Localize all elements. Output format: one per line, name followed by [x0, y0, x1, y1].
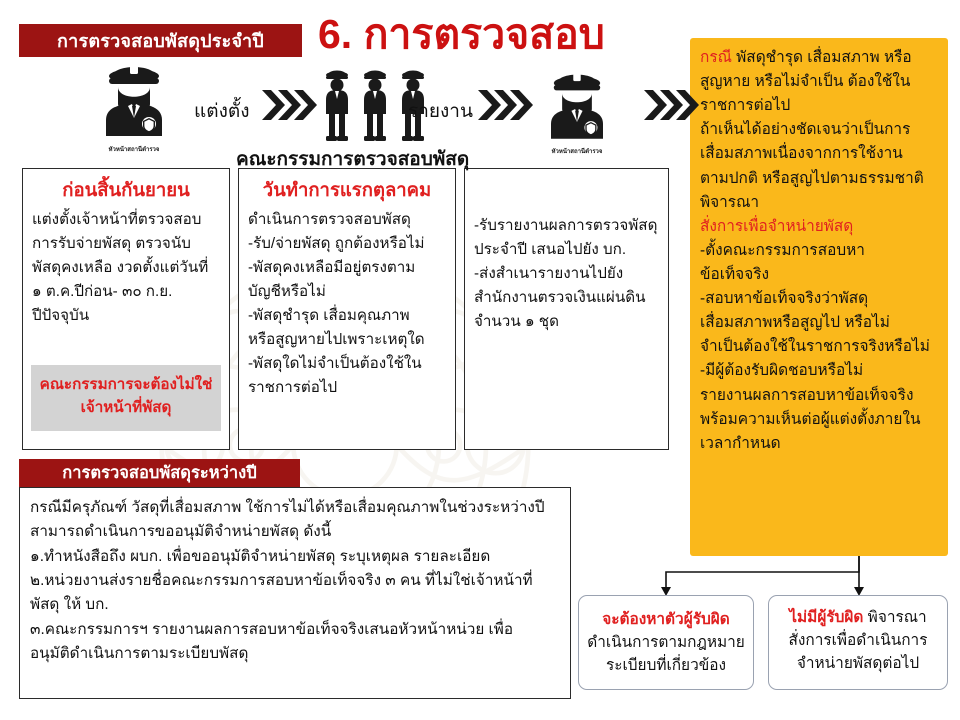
lower-line: อนุมัติดำเนินการตามระเบียบพัสดุ — [30, 642, 560, 666]
lower-line: ๑.ทำหนังสือถึง ผบก. เพื่อขออนุมัติจำหน่า… — [30, 545, 560, 569]
card-line: ดำเนินการตรวจสอบพัสดุ — [248, 208, 446, 232]
card-line: -พัสดุใดไม่จำเป็นต้องใช้ใน — [248, 352, 446, 376]
yellow-line-1: กรณี พัสดุชำรุด เสื่อมสภาพ หรือ — [700, 46, 938, 70]
card-line: แต่งตั้งเจ้าหน้าที่ตรวจสอบ — [32, 208, 220, 232]
yellow-line: จำเป็นต้องใช้ในราชการจริงหรือไม่ — [700, 335, 938, 359]
actor-caption: หัวหน้าสถานีตำรวจ — [525, 146, 629, 156]
card-before-end-september: ก่อนสิ้นกันยายน แต่งตั้งเจ้าหน้าที่ตรวจส… — [22, 168, 230, 450]
process-flow: หัวหน้าสถานีตำรวจ แต่งตั้ง — [70, 62, 690, 170]
flow-label-appoint: แต่งตั้ง — [194, 96, 249, 126]
actor-police-chief-right: หัวหน้าสถานีตำรวจ — [525, 70, 629, 156]
card-line: -พัสดุชำรุด เสื่อมคุณภาพ — [248, 304, 446, 328]
card-line: ปีปัจจุบัน — [32, 304, 220, 328]
card-body: -รับรายงานผลการตรวจพัสดุ ประจำปี เสนอไปย… — [465, 169, 668, 334]
slide-canvas: การตรวจสอบพัสดุประจำปี 6. การตรวจสอบ — [0, 0, 960, 720]
actor-police-chief-left: หัวหน้าสถานีตำรวจ — [78, 62, 190, 154]
yellow-line: เสื่อมสภาพเนื่องจากการใช้งาน — [700, 142, 938, 166]
lower-line: พัสดุ ให้ บก. — [30, 593, 560, 617]
card-heading: ก่อนสิ้นกันยายน — [23, 176, 229, 205]
result-heading: ไม่มีผู้รับผิด — [789, 609, 863, 626]
card-line: ประจำปี เสนอไปยัง บก. — [474, 238, 659, 262]
highlight-line: คณะกรรมการจะต้องไม่ใช่ — [35, 374, 217, 397]
committee-label: คณะกรรมการตรวจสอบพัสดุ — [236, 144, 469, 174]
card-body: ดำเนินการตรวจสอบพัสดุ -รับ/จ่ายพัสดุ ถูก… — [239, 208, 455, 400]
double-chevron-right-icon-1 — [260, 88, 318, 122]
lower-line: กรณีมีครุภัณฑ์ วัสดุที่เสื่อมสภาพ ใช้การ… — [30, 496, 560, 520]
card-heading: วันทำการแรกตุลาคม — [239, 176, 455, 205]
result-heading-suffix: พิจารณา — [863, 609, 926, 626]
card-line: สำนักงานตรวจเงินแผ่นดิน — [474, 286, 659, 310]
lower-line: สามารถดำเนินการขออนุมัติจำหน่ายพัสดุ ดัง… — [30, 520, 560, 544]
result-heading-row: ไม่มีผู้รับผิด พิจารณา — [769, 606, 947, 629]
result-box-liable-party: จะต้องหาตัวผู้รับผิด ดำเนินการตามกฎหมาย … — [578, 595, 754, 690]
yellow-line: ข้อเท็จจริง — [700, 263, 938, 287]
card-line: การรับจ่ายพัสดุ ตรวจนับ — [32, 232, 220, 256]
yellow-accent-word: กรณี — [700, 49, 732, 66]
yellow-line: -มีผู้ต้องรับผิดชอบหรือไม่ — [700, 359, 938, 383]
highlight-line: เจ้าหน้าที่พัสดุ — [35, 397, 217, 420]
card-highlight-note: คณะกรรมการจะต้องไม่ใช่ เจ้าหน้าที่พัสดุ — [31, 365, 221, 431]
actor-caption: หัวหน้าสถานีตำรวจ — [78, 144, 190, 154]
lower-section-body: กรณีมีครุภัณฑ์ วัสดุที่เสื่อมสภาพ ใช้การ… — [19, 487, 571, 699]
yellow-line: ตามปกติ หรือสูญไปตามธรรมชาติ — [700, 167, 938, 191]
yellow-line: พร้อมความเห็นต่อผู้แต่งตั้งภายใน — [700, 408, 938, 432]
card-line: หรือสูญหายไปเพราะเหตุใด — [248, 328, 446, 352]
yellow-line: รายงานผลการสอบหาข้อเท็จจริง — [700, 384, 938, 408]
result-box-no-liable-party: ไม่มีผู้รับผิด พิจารณา สั่งการเพื่อดำเนิ… — [768, 595, 948, 690]
result-line: ระเบียบที่เกี่ยวข้อง — [579, 654, 753, 677]
card-line: -รับรายงานผลการตรวจพัสดุ — [474, 214, 659, 238]
card-line: -พัสดุคงเหลือมีอยู่ตรงตาม — [248, 256, 446, 280]
card-line: -ส่งสำเนารายงานไปยัง — [474, 262, 659, 286]
police-officer-icon — [538, 70, 616, 148]
card-line: ๑ ต.ค.ปีก่อน- ๓๐ ก.ย. — [32, 280, 220, 304]
panel-damaged-asset-procedure: กรณี พัสดุชำรุด เสื่อมสภาพ หรือ สูญหาย ห… — [690, 38, 948, 556]
yellow-line: พิจารณา — [700, 191, 938, 215]
lower-section-header-label: การตรวจสอบพัสดุระหว่างปี — [62, 460, 256, 486]
header-badge-label: การตรวจสอบพัสดุประจำปี — [57, 26, 264, 55]
police-officer-icon — [92, 62, 176, 146]
card-line: จำนวน ๑ ชุด — [474, 310, 659, 334]
lower-line: ๓.คณะกรรมการฯ รายงานผลการสอบหาข้อเท็จจริ… — [30, 618, 560, 642]
yellow-line: สูญหาย หรือไม่จำเป็น ต้องใช้ใน — [700, 70, 938, 94]
double-chevron-right-icon-3 — [642, 88, 700, 122]
yellow-line: เวลากำหนด — [700, 432, 938, 456]
result-line: จำหน่ายพัสดุต่อไป — [769, 652, 947, 675]
lower-section-header: การตรวจสอบพัสดุระหว่างปี — [19, 459, 300, 487]
card-report-results: -รับรายงานผลการตรวจพัสดุ ประจำปี เสนอไปย… — [464, 168, 669, 450]
yellow-line: -ตั้งคณะกรรมการสอบหา — [700, 239, 938, 263]
card-first-working-day-october: วันทำการแรกตุลาคม ดำเนินการตรวจสอบพัสดุ … — [238, 168, 456, 450]
card-line: พัสดุคงเหลือ งวดตั้งแต่วันที่ — [32, 256, 220, 280]
yellow-line: เสื่อมสภาพหรือสูญไป หรือไม่ — [700, 311, 938, 335]
header-badge: การตรวจสอบพัสดุประจำปี — [19, 24, 302, 57]
card-line: บัญชีหรือไม่ — [248, 280, 446, 304]
card-body: แต่งตั้งเจ้าหน้าที่ตรวจสอบ การรับจ่ายพัส… — [23, 208, 229, 328]
yellow-line: ถ้าเห็นได้อย่างชัดเจนว่าเป็นการ — [700, 118, 938, 142]
page-title: 6. การตรวจสอบ — [318, 8, 678, 60]
result-line: ดำเนินการตามกฎหมาย — [579, 631, 753, 654]
lower-line: ๒.หน่วยงานส่งรายชื่อคณะกรรมการสอบหาข้อเท… — [30, 569, 560, 593]
result-line: สั่งการเพื่อดำเนินการ — [769, 629, 947, 652]
flow-label-report: รายงาน — [408, 96, 473, 126]
yellow-line-accent: สั่งการเพื่อจำหน่ายพัสดุ — [700, 215, 938, 239]
yellow-line: ราชการต่อไป — [700, 94, 938, 118]
card-line: ราชการต่อไป — [248, 376, 446, 400]
result-heading: จะต้องหาตัวผู้รับผิด — [579, 606, 753, 631]
yellow-line: -สอบหาข้อเท็จจริงว่าพัสดุ — [700, 287, 938, 311]
card-line: -รับ/จ่ายพัสดุ ถูกต้องหรือไม่ — [248, 232, 446, 256]
